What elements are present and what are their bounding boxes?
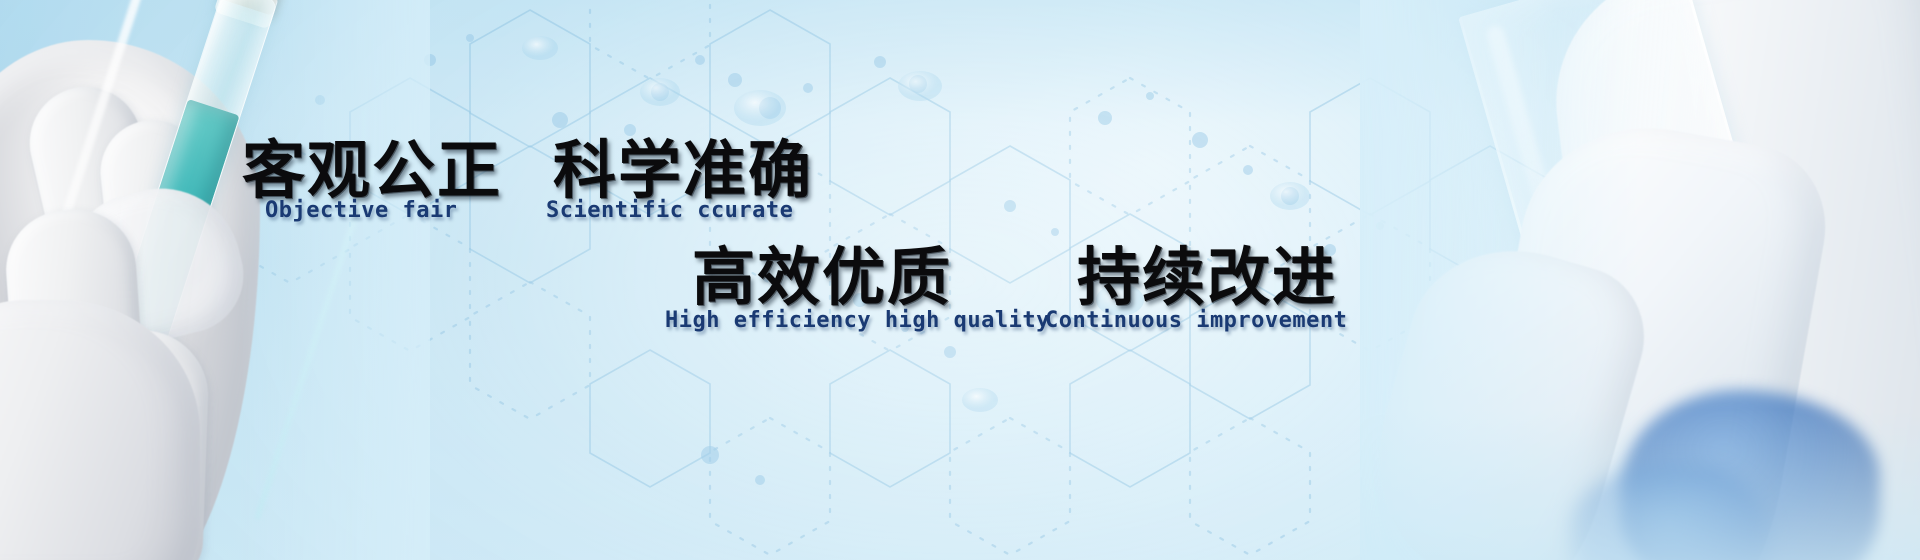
slogan-heading-2: 科学准确 bbox=[553, 140, 813, 203]
slogan-heading-3: 高效优质 bbox=[692, 247, 952, 310]
slogan-subtitle-2: Scientific ccurate bbox=[546, 200, 793, 222]
slogan-text-layer: 客观公正 科学准确 Objective fair Scientific ccur… bbox=[0, 0, 1920, 560]
slogan-subtitle-1: Objective fair bbox=[265, 200, 457, 222]
slogan-subtitle-4: Continuous improvement bbox=[1045, 310, 1347, 332]
laboratory-slogan-banner: 客观公正 科学准确 Objective fair Scientific ccur… bbox=[0, 0, 1920, 560]
slogan-subtitle-3: High efficiency high quality bbox=[665, 310, 1050, 332]
slogan-heading-1: 客观公正 bbox=[242, 140, 502, 203]
slogan-heading-4: 持续改进 bbox=[1077, 247, 1337, 310]
